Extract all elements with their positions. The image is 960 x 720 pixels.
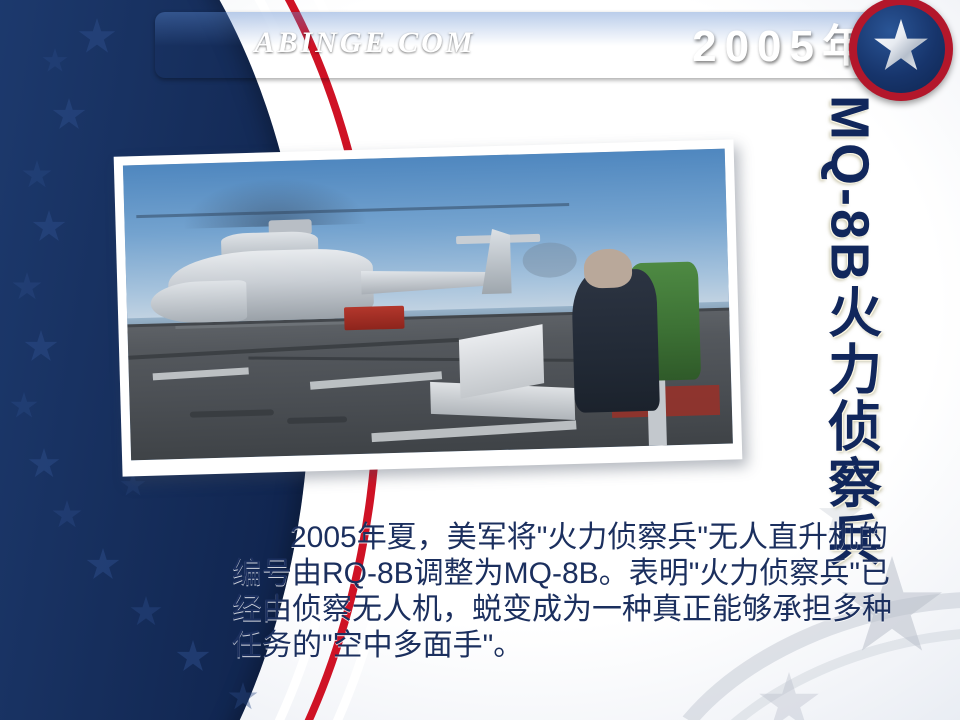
year-label: 2005年 bbox=[692, 18, 874, 76]
crew-body bbox=[571, 269, 659, 413]
photo-image bbox=[123, 149, 733, 461]
slide-root: ABINGE.COM 2005年 MQ-8B火力侦察兵 2005年夏，美军将"火… bbox=[0, 0, 960, 720]
photo-frame bbox=[114, 139, 743, 476]
body-paragraph: 2005年夏，美军将"火力侦察兵"无人直升机的编号由RQ-8B调整为MQ-8B。… bbox=[232, 520, 904, 664]
star-icon bbox=[873, 19, 929, 75]
deck-cart bbox=[344, 305, 405, 330]
badge-ring bbox=[857, 5, 945, 93]
crew-helmet bbox=[580, 243, 638, 271]
brand-label: ABINGE.COM bbox=[155, 26, 575, 60]
vertical-title-text: MQ-8B火力侦察兵 bbox=[811, 95, 890, 569]
header-bar: ABINGE.COM 2005年 bbox=[155, 12, 900, 78]
star-badge bbox=[849, 0, 953, 101]
vertical-title: MQ-8B火力侦察兵 bbox=[795, 95, 905, 515]
